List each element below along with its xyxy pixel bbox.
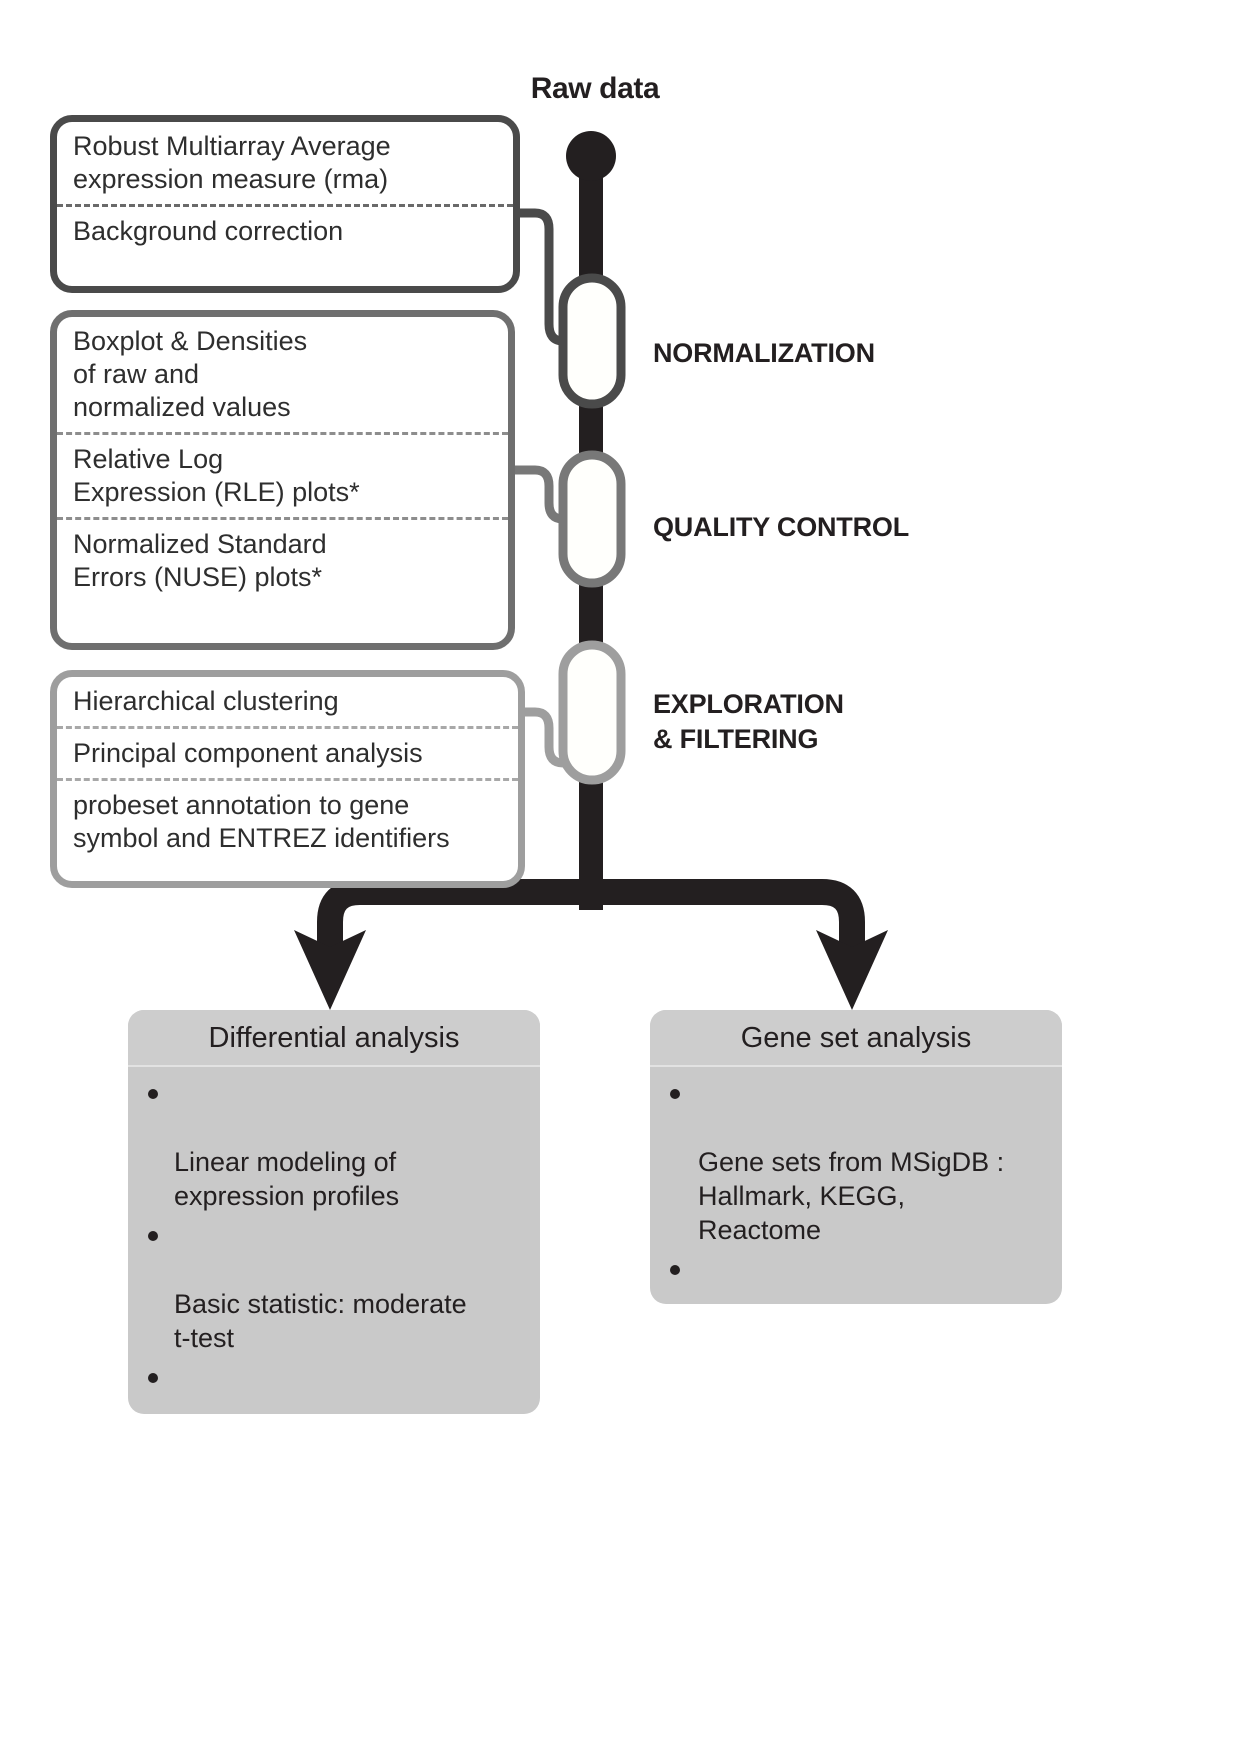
stage-box-normalization: Robust Multiarray Average expression mea… — [50, 115, 520, 293]
bullet-icon — [670, 1089, 680, 1099]
stage-item: Hierarchical clustering — [57, 677, 518, 726]
stage-box-exploration: Hierarchical clustering Principal compon… — [50, 670, 525, 888]
list-item-label: Basic statistic: moderate t-test — [174, 1289, 467, 1353]
stage-item: Principal component analysis — [57, 726, 518, 778]
list-item: Gene sets from MSigDB : Hallmark, KEGG, … — [668, 1077, 1048, 1247]
bullet-icon — [148, 1089, 158, 1099]
output-panel-gene-set-analysis: Gene set analysis Gene sets from MSigDB … — [650, 1010, 1062, 1304]
stage-label-quality-control: QUALITY CONTROL — [653, 510, 909, 545]
stage-capsule-normalization — [563, 278, 621, 404]
bullet-icon — [148, 1373, 158, 1383]
connector-quality-control — [512, 470, 563, 519]
stage-item: probeset annotation to gene symbol and E… — [57, 778, 518, 863]
stage-item: Boxplot & Densities of raw and normalize… — [57, 317, 508, 432]
panel-bullet-list: Linear modeling of expression profiles B… — [128, 1067, 540, 1414]
bullet-icon — [670, 1265, 680, 1275]
stage-item: Background correction — [57, 204, 513, 256]
list-item: Basic statistic: moderate t-test — [146, 1219, 526, 1355]
panel-heading: Gene set analysis — [650, 1010, 1062, 1067]
panel-heading: Differential analysis — [128, 1010, 540, 1067]
diagram-canvas: Raw data Robust Multiarray Average expre… — [0, 0, 1240, 1753]
stage-box-quality-control: Boxplot & Densities of raw and normalize… — [50, 310, 515, 650]
list-item-label: Linear modeling of expression profiles — [174, 1147, 399, 1211]
list-item-label: Gene sets from MSigDB : Hallmark, KEGG, … — [698, 1147, 1004, 1245]
stage-label-normalization: NORMALIZATION — [653, 336, 875, 371]
stage-item: Robust Multiarray Average expression mea… — [57, 122, 513, 204]
stage-label-exploration: EXPLORATION & FILTERING — [653, 687, 844, 756]
panel-bullet-list: Gene sets from MSigDB : Hallmark, KEGG, … — [650, 1067, 1062, 1304]
stage-item: Relative Log Expression (RLE) plots* — [57, 432, 508, 517]
stage-capsule-exploration — [563, 645, 621, 780]
list-item: Multiple testing correstion of p-value u… — [146, 1361, 526, 1414]
list-item: Linear modeling of expression profiles — [146, 1077, 526, 1213]
bullet-icon — [148, 1231, 158, 1241]
stage-item: Normalized Standard Errors (NUSE) plots* — [57, 517, 508, 602]
raw-data-node — [566, 131, 616, 181]
stage-capsule-quality-control — [563, 455, 621, 583]
list-item: Gene set test using competitive method C… — [668, 1253, 1048, 1304]
output-panel-differential-analysis: Differential analysis Linear modeling of… — [128, 1010, 540, 1414]
raw-data-title: Raw data — [455, 72, 735, 106]
branch-right — [591, 892, 852, 950]
branch-left — [330, 892, 591, 950]
